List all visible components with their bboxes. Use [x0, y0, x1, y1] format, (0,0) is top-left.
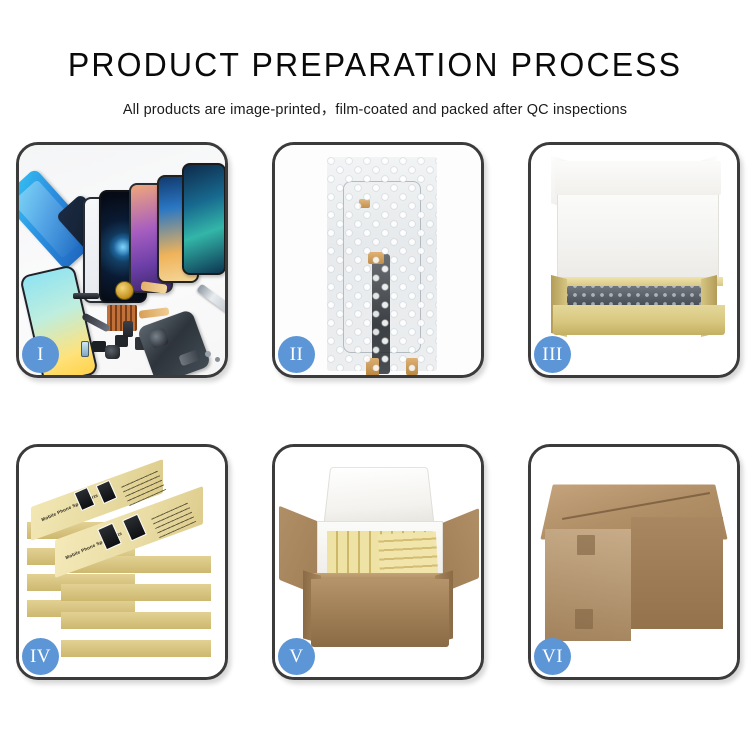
step-panel-2: II: [272, 142, 484, 378]
step-badge-1: I: [22, 336, 59, 373]
styrofoam-lid: [323, 467, 434, 525]
box-inner-rim: [555, 277, 723, 286]
screwdriver-tool: [196, 284, 225, 316]
step-panel-1: I: [16, 142, 228, 378]
page-subtitle: All products are image-printed，film-coat…: [0, 98, 750, 119]
step-badge-4: IV: [22, 638, 59, 675]
header: PRODUCT PREPARATION PROCESS All products…: [0, 0, 750, 119]
stacked-box-front-2: [61, 571, 211, 601]
page-title: PRODUCT PREPARATION PROCESS: [11, 48, 739, 81]
process-steps-grid: I II: [16, 142, 740, 694]
step-badge-5: V: [278, 638, 315, 675]
phone-screen-teal: [182, 163, 225, 275]
step-badge-2: II: [278, 336, 315, 373]
ic-chip-part-3: [92, 341, 106, 352]
screw-part-1: [205, 351, 211, 357]
product-preparation-process-infographic: PRODUCT PREPARATION PROCESS All products…: [0, 0, 750, 750]
camera-module-part: [105, 345, 120, 359]
carton-tape-patch-upper: [577, 535, 595, 555]
bubble-texture-overlay: [327, 157, 437, 371]
phone-back-housing: [136, 309, 211, 375]
bubble-wrap-bag: [327, 157, 437, 371]
flex-cable-part-2: [139, 307, 170, 319]
sim-tray-part: [81, 341, 89, 357]
step-panel-5: V: [272, 444, 484, 680]
stacked-box-front-3: [61, 599, 211, 629]
box-front-panel: [553, 305, 725, 335]
speaker-bar-part: [73, 293, 99, 299]
box-side-face: [61, 640, 211, 657]
screw-part-2: [215, 357, 220, 362]
step-badge-6: VI: [534, 638, 571, 675]
wireless-charging-coil-part: [115, 281, 134, 300]
box-stack: Mobile Phone Spare Parts: [25, 469, 221, 659]
step-panel-3: III: [528, 142, 740, 378]
step-panel-4: Mobile Phone Spare Parts: [16, 444, 228, 680]
yellow-boxes-row-2: [378, 532, 438, 577]
foam-upper-fold: [555, 161, 721, 195]
carton-front-panel: [311, 579, 449, 647]
step-badge-3: III: [534, 336, 571, 373]
stacked-box-front-4: [61, 627, 211, 657]
battery-connector-part: [123, 321, 133, 337]
step-panel-6: VI: [528, 444, 740, 680]
carton-tape-patch-lower: [575, 609, 593, 629]
carton-right-face: [631, 517, 723, 629]
